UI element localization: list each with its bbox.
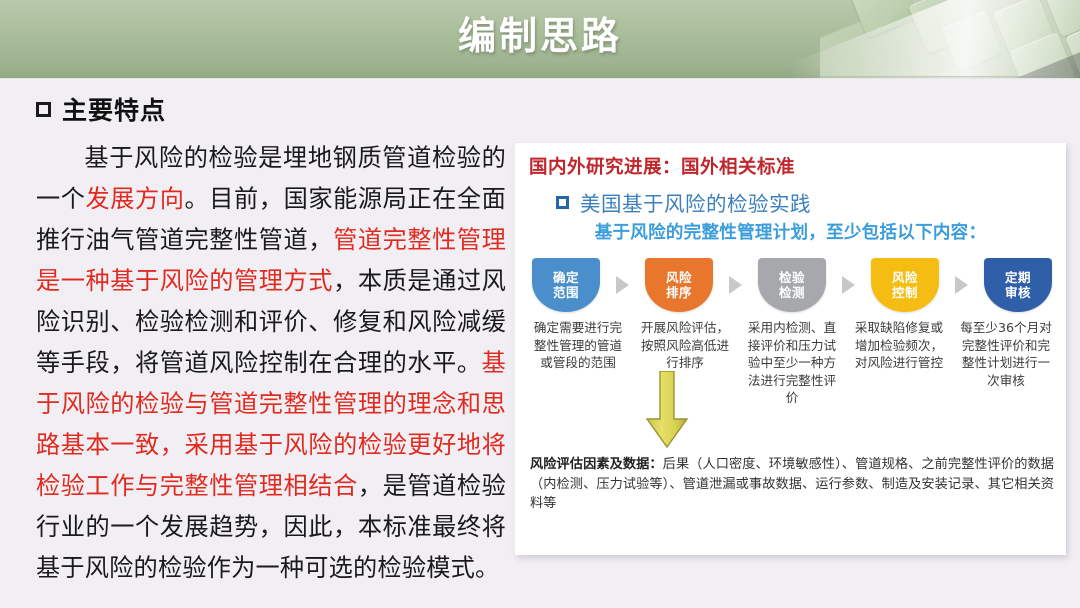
panel-subtitle-label: 美国基于风险的检验实践 — [580, 187, 811, 217]
triangle-right-icon — [616, 276, 629, 294]
triangle-right-icon — [955, 276, 968, 294]
slide-header: 编制思路 — [0, 0, 1080, 78]
section-heading: 主要特点 — [36, 92, 506, 126]
flow-node-label-line2: 范围 — [553, 285, 579, 300]
flow-node-label-line1: 检验 — [779, 270, 805, 285]
flow-node-label-line2: 检测 — [779, 285, 805, 300]
flow-node-label-line1: 确定 — [553, 270, 579, 285]
process-flow-row: 确定范围风险排序检验检测风险控制定期审核 — [532, 256, 1052, 314]
triangle-right-icon — [729, 276, 742, 294]
reference-image-panel: 国内外研究进展：国外相关标准 美国基于风险的检验实践 基于风险的完整性管理计划，… — [515, 143, 1066, 555]
panel-footnote: 风险评估因素及数据：后果（人口密度、环境敏感性）、管道规格、之前完整性评价的数据… — [530, 455, 1054, 514]
left-content-column: 主要特点 基于风险的检验是埋地钢质管道检验的一个发展方向。目前，国家能源局正在全… — [36, 92, 506, 589]
square-bullet-blue-icon — [556, 196, 569, 209]
panel-footnote-lead: 风险评估因素及数据： — [530, 457, 663, 472]
flow-node-4: 风险控制 — [871, 258, 939, 312]
header-bottom-edge — [0, 76, 1080, 79]
flow-node-5: 定期审核 — [984, 258, 1052, 312]
process-description-3: 采用内检测、直接评价和压力试验中至少一种方法进行完整性评价 — [746, 319, 838, 407]
process-description-1: 确定需要进行完整性管理的管道或管段的范围 — [532, 319, 624, 407]
flow-node-2: 风险排序 — [645, 258, 713, 312]
panel-title: 国内外研究进展：国外相关标准 — [529, 153, 795, 179]
panel-subtitle: 美国基于风险的检验实践 — [556, 187, 811, 217]
paragraph-run-1: 发展方向 — [86, 185, 185, 213]
flow-node-3: 检验检测 — [758, 258, 826, 312]
flow-node-label-line2: 审核 — [1005, 285, 1031, 300]
flow-node-label-line1: 定期 — [1005, 270, 1031, 285]
triangle-right-icon — [842, 276, 855, 294]
flow-node-label-line2: 控制 — [892, 285, 918, 300]
flow-node-label-line2: 排序 — [666, 285, 692, 300]
flow-node-label-line1: 风险 — [892, 270, 918, 285]
arrow-down-icon — [645, 371, 689, 451]
process-description-4: 采取缺陷修复或增加检验频次，对风险进行管控 — [853, 319, 945, 407]
section-heading-label: 主要特点 — [62, 91, 166, 127]
process-description-row: 确定需要进行完整性管理的管道或管段的范围开展风险评估，按照风险高低进行排序采用内… — [532, 319, 1052, 407]
panel-lead-line: 基于风险的完整性管理计划，至少包括以下内容： — [515, 219, 1066, 244]
flow-node-1: 确定范围 — [532, 258, 600, 312]
slide-root: 编制思路 主要特点 基于风险的检验是埋地钢质管道检验的一个发展方向。目前，国家能… — [0, 0, 1080, 608]
flow-node-label-line1: 风险 — [666, 270, 692, 285]
square-bullet-icon — [36, 102, 51, 117]
body-paragraph: 基于风险的检验是埋地钢质管道检验的一个发展方向。目前，国家能源局正在全面推行油气… — [36, 138, 506, 589]
page-title: 编制思路 — [0, 0, 1080, 78]
process-description-5: 每至少36个月对完整性评价和完整性计划进行一次审核 — [960, 319, 1052, 407]
